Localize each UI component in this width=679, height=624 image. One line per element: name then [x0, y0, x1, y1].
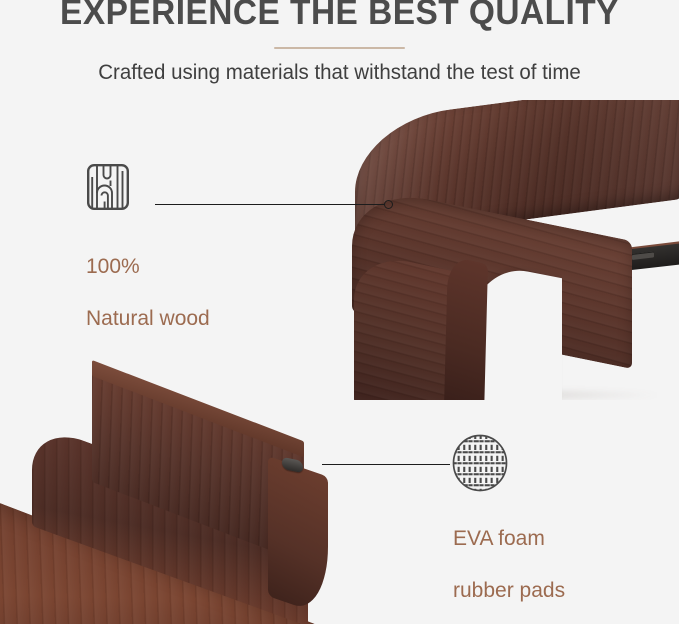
product-image-stand-underside — [0, 352, 360, 624]
infographic-page: EXPERIENCE THE BEST QUALITY Crafted usin… — [0, 0, 679, 624]
product-image-monitor-stand — [330, 100, 679, 400]
feature-line-2: Natural wood — [86, 306, 210, 332]
feature-line-1: 100% — [86, 254, 210, 280]
feature-label-natural-wood: 100% Natural wood — [86, 228, 210, 358]
callout-marker-natural-wood — [384, 200, 393, 209]
title-divider — [274, 47, 405, 49]
feature-line-1: EVA foam — [453, 526, 565, 552]
usb-port-icon — [632, 251, 654, 260]
shelf-curved-leg — [268, 456, 328, 617]
feature-label-eva-foam: EVA foam rubber pads — [453, 500, 565, 624]
wood-grain-icon — [86, 163, 130, 211]
callout-line-natural-wood — [155, 204, 385, 205]
page-title: EXPERIENCE THE BEST QUALITY — [15, 0, 663, 33]
callout-line-eva-foam — [322, 464, 450, 465]
weave-pattern-icon — [451, 433, 509, 493]
stand-inner-leg — [444, 255, 488, 400]
page-subtitle: Crafted using materials that withstand t… — [8, 58, 670, 88]
feature-line-2: rubber pads — [453, 578, 565, 604]
